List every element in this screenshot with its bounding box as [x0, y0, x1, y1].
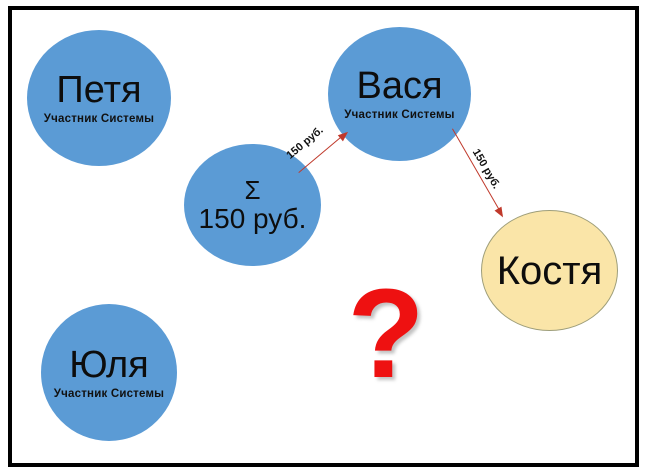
node-vasya-title: Вася: [356, 67, 442, 105]
diagram-canvas: Петя Участник Системы Вася Участник Сист…: [0, 0, 647, 476]
node-kostya[interactable]: Костя: [481, 210, 618, 331]
node-petya[interactable]: Петя Участник Системы: [27, 30, 171, 166]
node-yulya-title: Юля: [69, 346, 148, 384]
node-vasya[interactable]: Вася Участник Системы: [328, 27, 471, 161]
arrow-head-icon: [495, 207, 507, 220]
sigma-symbol: Σ: [244, 177, 260, 203]
question-mark-annotation: ?: [336, 271, 436, 397]
node-vasya-subtitle: Участник Системы: [344, 109, 454, 121]
node-yulya-subtitle: Участник Системы: [54, 388, 164, 400]
node-petya-title: Петя: [56, 71, 141, 109]
node-kostya-title: Костя: [497, 251, 603, 291]
node-petya-subtitle: Участник Системы: [44, 113, 154, 125]
node-sum-amount: 150 руб.: [199, 205, 307, 233]
node-sum-total[interactable]: Σ 150 руб.: [184, 144, 321, 266]
node-yulya[interactable]: Юля Участник Системы: [41, 304, 177, 441]
